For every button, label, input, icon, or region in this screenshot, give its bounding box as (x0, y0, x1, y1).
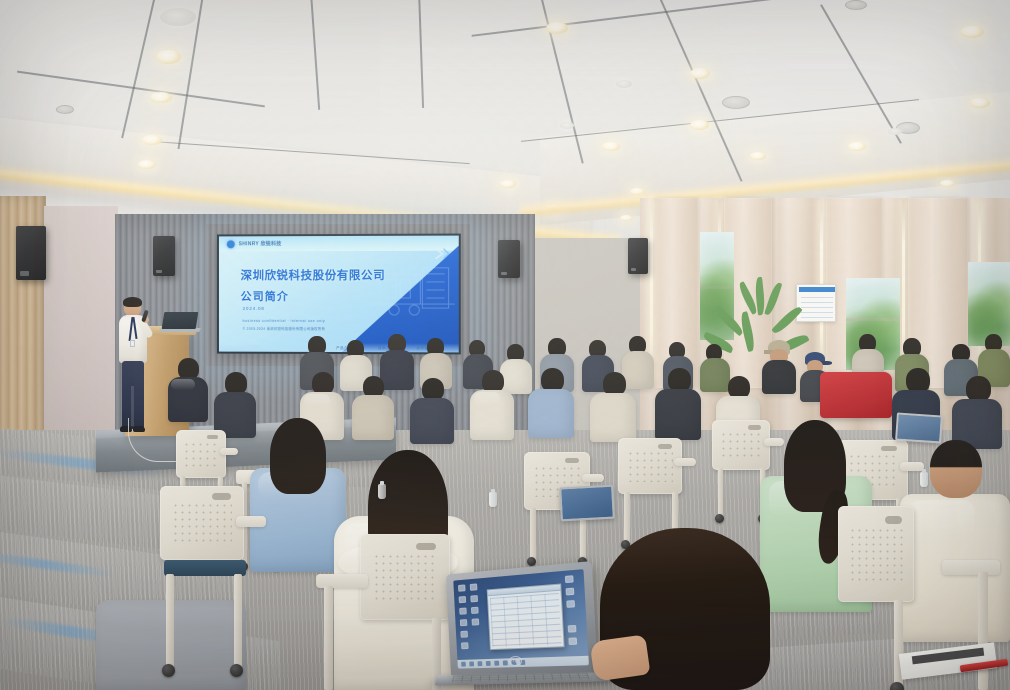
wall-speaker-left (16, 226, 46, 280)
slide-fine-print-1: business confidential · internal use onl… (243, 319, 326, 323)
desktop-icon[interactable] (472, 618, 480, 625)
ceiling-downlight (690, 120, 709, 130)
chair-perforation (183, 441, 219, 468)
ceiling-downlight (546, 22, 568, 34)
conference-room-photo: SHINRY 欣锐科技 (0, 0, 1010, 690)
podium-laptop-screen (162, 312, 199, 329)
chair-leg (718, 468, 723, 518)
foreground-laptop[interactable]: hp (443, 568, 611, 690)
chair-armrest (220, 448, 238, 455)
desktop-icon[interactable] (459, 608, 467, 615)
audience-member (952, 376, 1002, 446)
ceiling-downlight (616, 80, 632, 88)
training-chair-foreground[interactable] (148, 486, 268, 686)
chair-leg (166, 574, 174, 670)
ceiling-downlight (970, 98, 990, 108)
chair-handle-slot (565, 458, 580, 463)
ceiling-downlight (150, 92, 172, 103)
projection-screen: SHINRY 欣锐科技 (217, 234, 461, 355)
slide-corner-mark-icon (434, 248, 450, 260)
chair-perforation (849, 527, 904, 581)
ceiling-downlight (848, 142, 866, 151)
shoulder-highlight (171, 379, 195, 391)
wall-sign-text-lines (801, 297, 833, 319)
ceiling-speaker (845, 0, 867, 10)
desktop-icon[interactable] (459, 596, 467, 603)
chair-handle-slot (212, 493, 230, 500)
chair-leg (234, 574, 242, 670)
torso (528, 389, 574, 438)
chair-perforation (172, 502, 232, 543)
desktop-icon[interactable] (460, 631, 468, 638)
chair-armrest (582, 474, 604, 482)
ceiling-downlight (750, 152, 766, 160)
wall-speaker-right (628, 238, 648, 274)
slide-fine-print-2: © 2003-2024 深圳欣锐科技股份有限公司版权所有 (243, 326, 326, 331)
ceiling-downlight (620, 215, 633, 221)
presenter-badge (130, 340, 135, 347)
desktop-icon[interactable] (461, 642, 469, 649)
chair-caster (230, 664, 243, 677)
chair-caster (715, 514, 724, 523)
chair-handle-slot (748, 425, 761, 430)
chair-armrest (674, 458, 696, 466)
chair-handle-slot (885, 516, 902, 525)
plant-leaf (764, 281, 782, 316)
chair-handle-slot (881, 446, 896, 451)
head (930, 440, 982, 498)
audience-member (168, 358, 208, 420)
audience-member (655, 368, 701, 438)
water-bottle (920, 472, 928, 487)
desktop-icon[interactable] (471, 607, 479, 614)
taskbar-icon[interactable] (461, 662, 466, 667)
ceiling-downlight (160, 8, 196, 26)
audience-laptop[interactable] (895, 412, 943, 443)
desktop-icon[interactable] (458, 584, 466, 591)
chair-handle-slot (207, 435, 218, 439)
chair-handle-slot (658, 444, 672, 449)
training-chair-foreground[interactable] (300, 534, 450, 690)
ceiling-downlight (138, 160, 156, 169)
audience-laptop[interactable] (559, 485, 615, 522)
ceiling-speaker (56, 105, 74, 114)
audience-member (352, 376, 394, 438)
audience-member (528, 368, 574, 436)
audience-member (410, 378, 454, 442)
ceiling-downlight (940, 180, 955, 187)
chair-caster (527, 557, 536, 566)
desktop-icon[interactable] (566, 600, 575, 608)
torso (410, 398, 454, 444)
chair-backrest (838, 506, 914, 602)
red-bag (820, 372, 892, 418)
ceiling-downlight (602, 142, 620, 151)
laptop-lid (446, 561, 598, 675)
desktop-icon[interactable] (470, 595, 478, 602)
chair-caster (162, 664, 175, 677)
presenter (118, 298, 148, 438)
presenter-hair (123, 297, 142, 307)
taskbar-icon[interactable] (486, 661, 491, 666)
slide-title: 深圳欣锐科技股份有限公司 (241, 267, 386, 283)
chair-leg (324, 586, 333, 690)
desktop-icon[interactable] (470, 583, 478, 590)
ceiling-downlight (142, 135, 162, 145)
presentation-slide: SHINRY 欣锐科技 (219, 236, 459, 353)
torso (762, 360, 796, 394)
torso (655, 389, 701, 440)
taskbar-icon[interactable] (503, 660, 508, 665)
chair-perforation (720, 431, 762, 459)
water-bottle (489, 492, 497, 507)
taskbar-icon[interactable] (477, 661, 482, 666)
desktop-icon[interactable] (460, 619, 468, 626)
ceiling-downlight (690, 68, 710, 79)
slide-date: 2024.08 (243, 306, 265, 311)
chair-leg (978, 572, 988, 690)
laptop-display[interactable] (453, 569, 589, 669)
ceiling-downlight (560, 122, 574, 129)
shoulder-highlight (304, 394, 330, 406)
audience-member (470, 370, 514, 438)
application-window[interactable] (487, 583, 565, 650)
chair-armrest (942, 560, 1000, 575)
torso (352, 395, 394, 440)
desktop-icon[interactable] (565, 575, 574, 583)
ceiling-downlight (960, 26, 984, 38)
hand-on-keyboard (589, 634, 650, 681)
wall-speaker-stage-right (498, 240, 520, 278)
ceiling-downlight (888, 128, 902, 135)
shoulder-highlight (474, 392, 500, 405)
audience-member-with-cap (762, 340, 796, 392)
desktop-icon[interactable] (568, 637, 577, 645)
chair-backrest (618, 438, 682, 494)
taskbar-icon[interactable] (469, 661, 474, 666)
chair-backrest (360, 534, 450, 620)
wall-speaker-stage-left (153, 236, 175, 276)
company-logo-icon (227, 240, 235, 248)
ceiling-downlight (156, 50, 181, 64)
chair-handle-slot (416, 543, 436, 551)
taskbar[interactable] (457, 656, 589, 669)
wall-notice-sign (796, 284, 836, 322)
chair-perforation (627, 450, 673, 481)
ceiling-speaker (722, 96, 750, 109)
chair-backrest (160, 486, 244, 560)
chair-perforation (373, 553, 438, 601)
torso (470, 390, 514, 440)
torso (590, 393, 636, 442)
desktop-icon[interactable] (566, 588, 575, 596)
window-mullion (846, 318, 900, 321)
chair-armrest (236, 516, 266, 527)
hp-logo: hp (509, 656, 522, 666)
slide-subtitle: 公司简介 (241, 288, 289, 304)
wall-sign-header (799, 287, 835, 292)
spreadsheet-grid[interactable] (490, 593, 562, 647)
chair-caster (890, 682, 904, 690)
desktop-icon[interactable] (568, 625, 577, 633)
water-bottle (378, 484, 386, 499)
taskbar-icon[interactable] (494, 661, 499, 666)
ceiling-downlight (500, 180, 516, 188)
long-hair (270, 418, 326, 494)
audience-member (590, 372, 636, 440)
company-logo-text: SHINRY 欣锐科技 (239, 240, 282, 247)
chair-leg (530, 508, 536, 562)
chair-backrest (176, 430, 226, 478)
torso (168, 377, 208, 422)
